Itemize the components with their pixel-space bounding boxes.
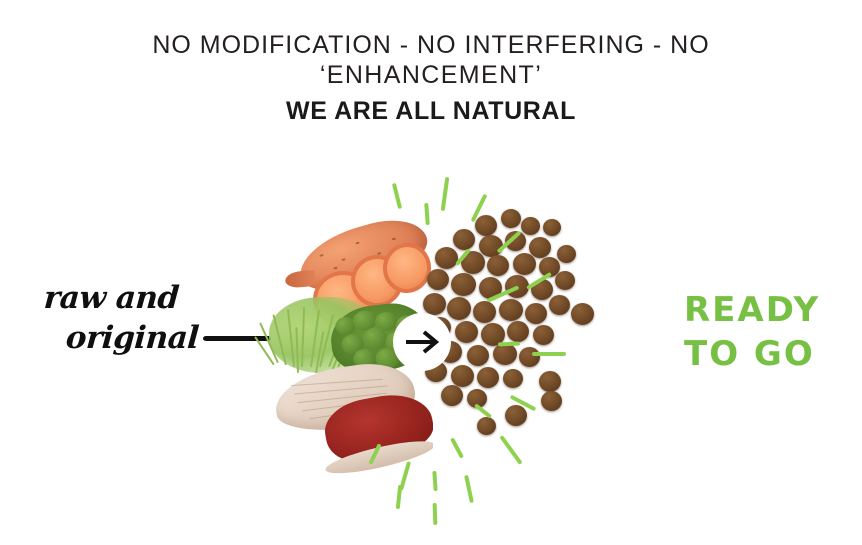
kibble-piece	[505, 405, 527, 426]
kibble-piece	[541, 391, 562, 411]
kibble-pile	[423, 205, 623, 455]
kibble-piece	[571, 303, 594, 325]
sparkle-ray	[392, 183, 402, 209]
ready-to-go-line-1: READY	[684, 288, 859, 332]
kibble-piece	[479, 235, 503, 257]
sparkle-ray	[433, 503, 438, 525]
kibble-piece	[487, 255, 509, 276]
sparkle-ray	[532, 352, 566, 356]
kibble-piece	[499, 299, 523, 321]
kibble-piece	[451, 365, 474, 387]
kibble-piece	[423, 293, 446, 315]
kibble-piece	[473, 301, 496, 323]
ready-to-go-label: READY TO GO	[684, 288, 859, 376]
kibble-piece	[513, 253, 536, 275]
kibble-piece	[475, 215, 497, 236]
page-canvas: NO MODIFICATION - NO INTERFERING - NO ‘E…	[0, 0, 862, 545]
kibble-piece	[477, 367, 499, 388]
kibble-piece	[501, 209, 521, 228]
kibble-piece	[451, 273, 476, 296]
sparkle-ray	[498, 342, 520, 347]
raw-and-original-label: raw and original	[44, 278, 204, 358]
headline-line-3: WE ARE ALL NATURAL	[0, 94, 862, 128]
kibble-piece	[525, 303, 547, 324]
kibble-piece	[477, 417, 496, 435]
raw-and-original-line-1: raw and	[43, 278, 206, 318]
kibble-piece	[539, 371, 561, 392]
sparkle-ray	[432, 471, 437, 491]
kibble-piece	[549, 295, 570, 315]
kibble-piece	[447, 297, 471, 320]
kibble-piece	[427, 269, 449, 290]
headline-block: NO MODIFICATION - NO INTERFERING - NO ‘E…	[0, 30, 862, 128]
kibble-piece	[455, 321, 478, 343]
kibble-piece	[441, 385, 463, 406]
kibble-piece	[507, 321, 529, 342]
kibble-piece	[467, 345, 489, 366]
kibble-piece	[503, 369, 523, 388]
ready-to-go-line-2: TO GO	[684, 332, 859, 376]
kibble-piece	[521, 217, 540, 235]
sparkle-ray	[396, 485, 402, 509]
kibble-piece	[519, 347, 540, 367]
arrow-right-badge[interactable]	[393, 313, 451, 371]
product-photo	[255, 185, 615, 505]
headline-line-1: NO MODIFICATION - NO INTERFERING - NO	[0, 30, 862, 60]
kibble-piece	[435, 247, 458, 269]
kibble-piece	[529, 237, 551, 258]
kibble-piece	[557, 245, 576, 263]
arrow-right-icon	[404, 329, 440, 355]
kibble-piece	[453, 229, 475, 250]
raw-and-original-line-2: original	[65, 318, 206, 358]
headline-line-2: ‘ENHANCEMENT’	[0, 60, 862, 90]
kibble-piece	[533, 325, 554, 345]
kibble-piece	[555, 271, 575, 290]
kibble-piece	[543, 219, 561, 236]
kibble-piece	[493, 343, 517, 365]
sparkle-ray	[464, 475, 474, 503]
